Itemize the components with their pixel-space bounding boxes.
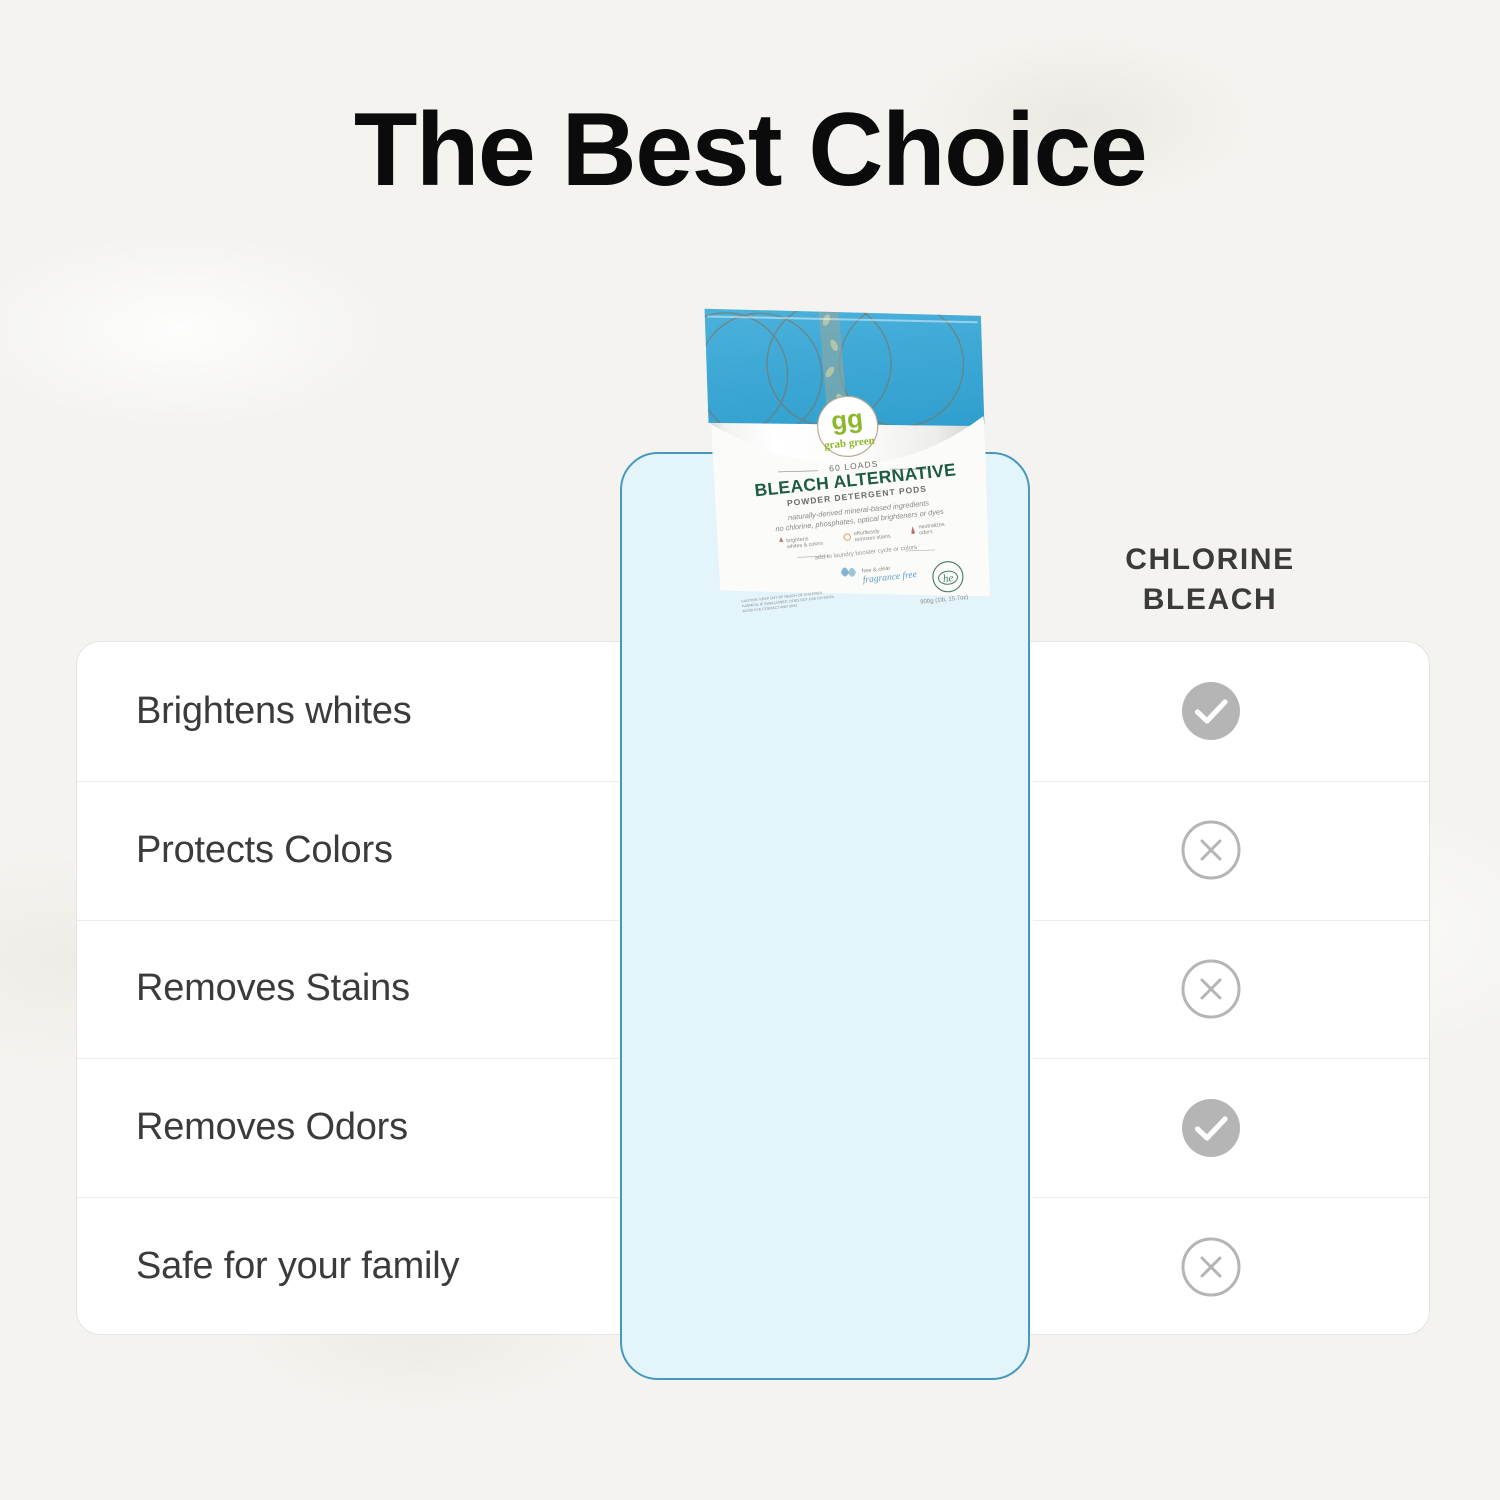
feature-label: Removes Odors bbox=[136, 1106, 408, 1149]
row-divider bbox=[77, 1058, 619, 1059]
column-header-text-line-1: CHLORINE bbox=[1060, 540, 1360, 580]
row-divider bbox=[77, 920, 619, 921]
cell-bleach-brightens-whites bbox=[1172, 680, 1250, 742]
product-net-weight: 900g (1lb, 15.7oz) bbox=[920, 595, 969, 606]
row-divider bbox=[1033, 1197, 1429, 1198]
row-divider bbox=[1033, 920, 1429, 921]
feature-label: Removes Stains bbox=[136, 967, 410, 1010]
product-he-badge: he bbox=[942, 572, 954, 585]
row-divider bbox=[1033, 1058, 1429, 1059]
feature-label: Safe for your family bbox=[136, 1245, 459, 1288]
feature-label: Brightens whites bbox=[136, 690, 412, 733]
column-header-text-line-2: BLEACH bbox=[1060, 580, 1360, 620]
cross-circle-outline-icon bbox=[1180, 819, 1242, 881]
product-package-image: gg grab green 60 LOADS BLEACH ALTERNATIV… bbox=[697, 258, 1007, 620]
feature-label: Protects Colors bbox=[136, 829, 393, 872]
row-divider bbox=[77, 1197, 619, 1198]
column-header-chlorine-bleach: CHLORINE BLEACH CHLORINE BLEACH bbox=[1060, 540, 1360, 620]
cell-bleach-removes-stains bbox=[1172, 958, 1250, 1020]
comparison-infographic: The Best Choice CHLORINE BLEACH CHLORINE… bbox=[0, 0, 1500, 1500]
row-divider bbox=[77, 781, 619, 782]
brand-logo-mark: gg bbox=[830, 403, 865, 436]
check-circle-muted-icon bbox=[1180, 680, 1242, 742]
product-pouch-svg: gg grab green 60 LOADS BLEACH ALTERNATIV… bbox=[697, 258, 1007, 620]
cell-bleach-protects-colors bbox=[1172, 819, 1250, 881]
page-title: The Best Choice bbox=[0, 96, 1500, 205]
check-circle-muted-icon bbox=[1180, 1097, 1242, 1159]
cell-bleach-removes-odors bbox=[1172, 1097, 1250, 1159]
cell-bleach-safe-for-family bbox=[1172, 1236, 1250, 1298]
cross-circle-outline-icon bbox=[1180, 958, 1242, 1020]
row-divider bbox=[1033, 781, 1429, 782]
cross-circle-outline-icon bbox=[1180, 1236, 1242, 1298]
